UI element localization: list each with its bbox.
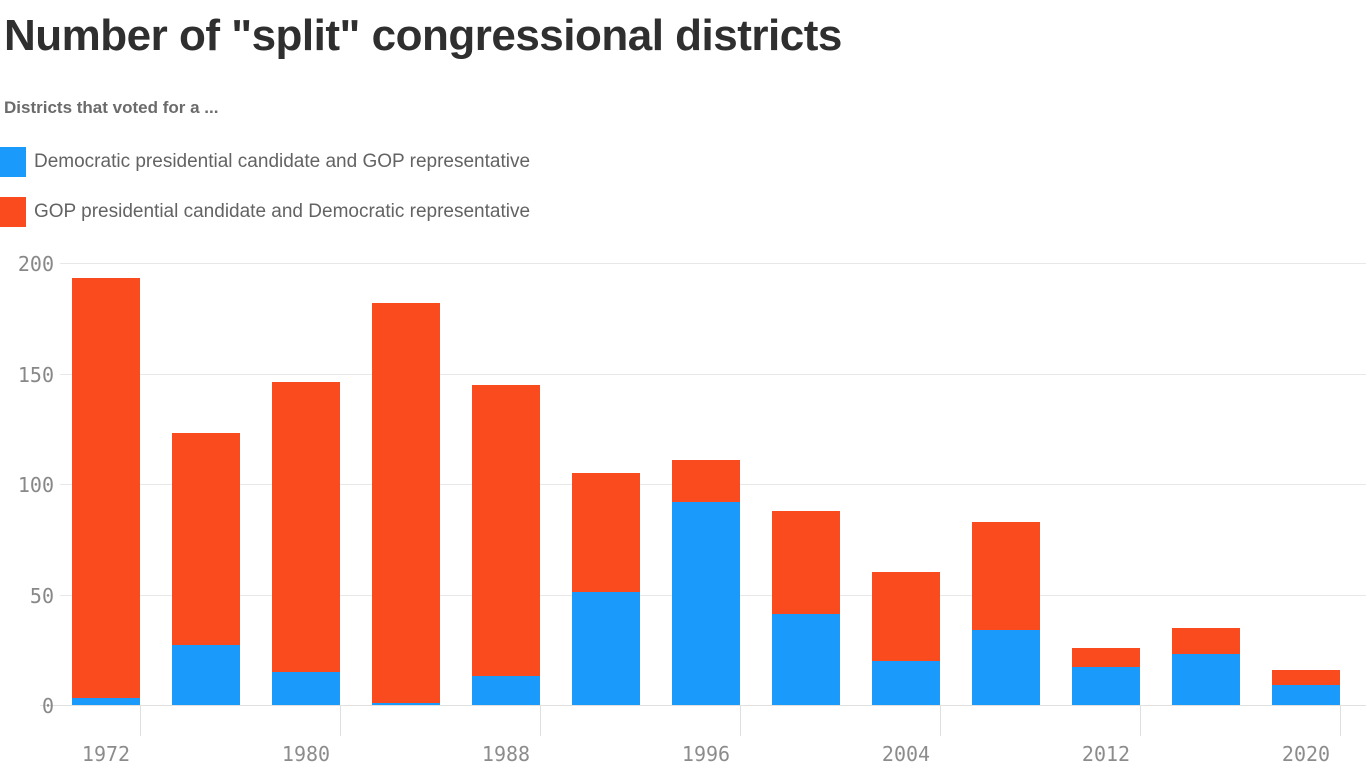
x-tick-mark-2004 (940, 706, 941, 736)
bar-segment-democratic-2012[interactable] (1072, 667, 1140, 705)
x-tick-mark-1980 (340, 706, 341, 736)
bar-segment-gop-2008[interactable] (972, 522, 1040, 630)
bar-segment-gop-1996[interactable] (672, 460, 740, 502)
x-tick-label-2020: 2020 (1282, 742, 1330, 766)
bar-segment-gop-2016[interactable] (1172, 628, 1240, 655)
bar-2000[interactable] (772, 511, 840, 705)
bar-segment-gop-1988[interactable] (472, 385, 540, 677)
bar-segment-democratic-2020[interactable] (1272, 685, 1340, 705)
x-tick-label-1980: 1980 (282, 742, 330, 766)
bar-segment-democratic-1972[interactable] (72, 698, 140, 705)
bar-segment-gop-2012[interactable] (1072, 648, 1140, 668)
x-tick-mark-1972 (140, 706, 141, 736)
bar-segment-democratic-2004[interactable] (872, 661, 940, 705)
x-tick-mark-1996 (740, 706, 741, 736)
bar-segment-gop-1976[interactable] (172, 433, 240, 645)
bar-1996[interactable] (672, 460, 740, 705)
x-tick-label-1972: 1972 (82, 742, 130, 766)
x-tick-mark-1988 (540, 706, 541, 736)
bar-segment-democratic-2000[interactable] (772, 614, 840, 705)
x-tick-label-2012: 2012 (1082, 742, 1130, 766)
x-tick-mark-2012 (1140, 706, 1141, 736)
bar-1988[interactable] (472, 385, 540, 705)
bar-segment-democratic-1996[interactable] (672, 502, 740, 705)
bar-segment-democratic-2016[interactable] (1172, 654, 1240, 705)
x-tick-label-2004: 2004 (882, 742, 930, 766)
bar-segment-gop-2020[interactable] (1272, 670, 1340, 685)
bar-series-container (0, 0, 1366, 768)
plot-area: 050100150200 197219801988199620042012202… (0, 0, 1366, 768)
bar-1980[interactable] (272, 382, 340, 705)
bar-2004[interactable] (872, 572, 940, 705)
bar-segment-gop-1972[interactable] (72, 278, 140, 698)
bar-segment-gop-2000[interactable] (772, 511, 840, 615)
bar-segment-democratic-1992[interactable] (572, 592, 640, 705)
bar-1984[interactable] (372, 303, 440, 705)
x-tick-mark-2020 (1340, 706, 1341, 736)
bar-2016[interactable] (1172, 628, 1240, 705)
x-tick-label-1988: 1988 (482, 742, 530, 766)
bar-segment-gop-1984[interactable] (372, 303, 440, 703)
bar-segment-democratic-1976[interactable] (172, 645, 240, 705)
bar-1992[interactable] (572, 473, 640, 705)
bar-segment-gop-2004[interactable] (872, 572, 940, 660)
bar-segment-democratic-2008[interactable] (972, 630, 1040, 705)
x-tick-label-1996: 1996 (682, 742, 730, 766)
bar-segment-democratic-1988[interactable] (472, 676, 540, 705)
bar-2012[interactable] (1072, 648, 1140, 705)
bar-segment-democratic-1984[interactable] (372, 703, 440, 705)
bar-segment-gop-1992[interactable] (572, 473, 640, 592)
bar-2020[interactable] (1272, 670, 1340, 705)
bar-segment-gop-1980[interactable] (272, 382, 340, 672)
chart-page: Number of "split" congressional district… (0, 0, 1366, 768)
bar-1976[interactable] (172, 433, 240, 705)
bar-segment-democratic-1980[interactable] (272, 672, 340, 705)
bar-2008[interactable] (972, 522, 1040, 705)
bar-1972[interactable] (72, 278, 140, 705)
